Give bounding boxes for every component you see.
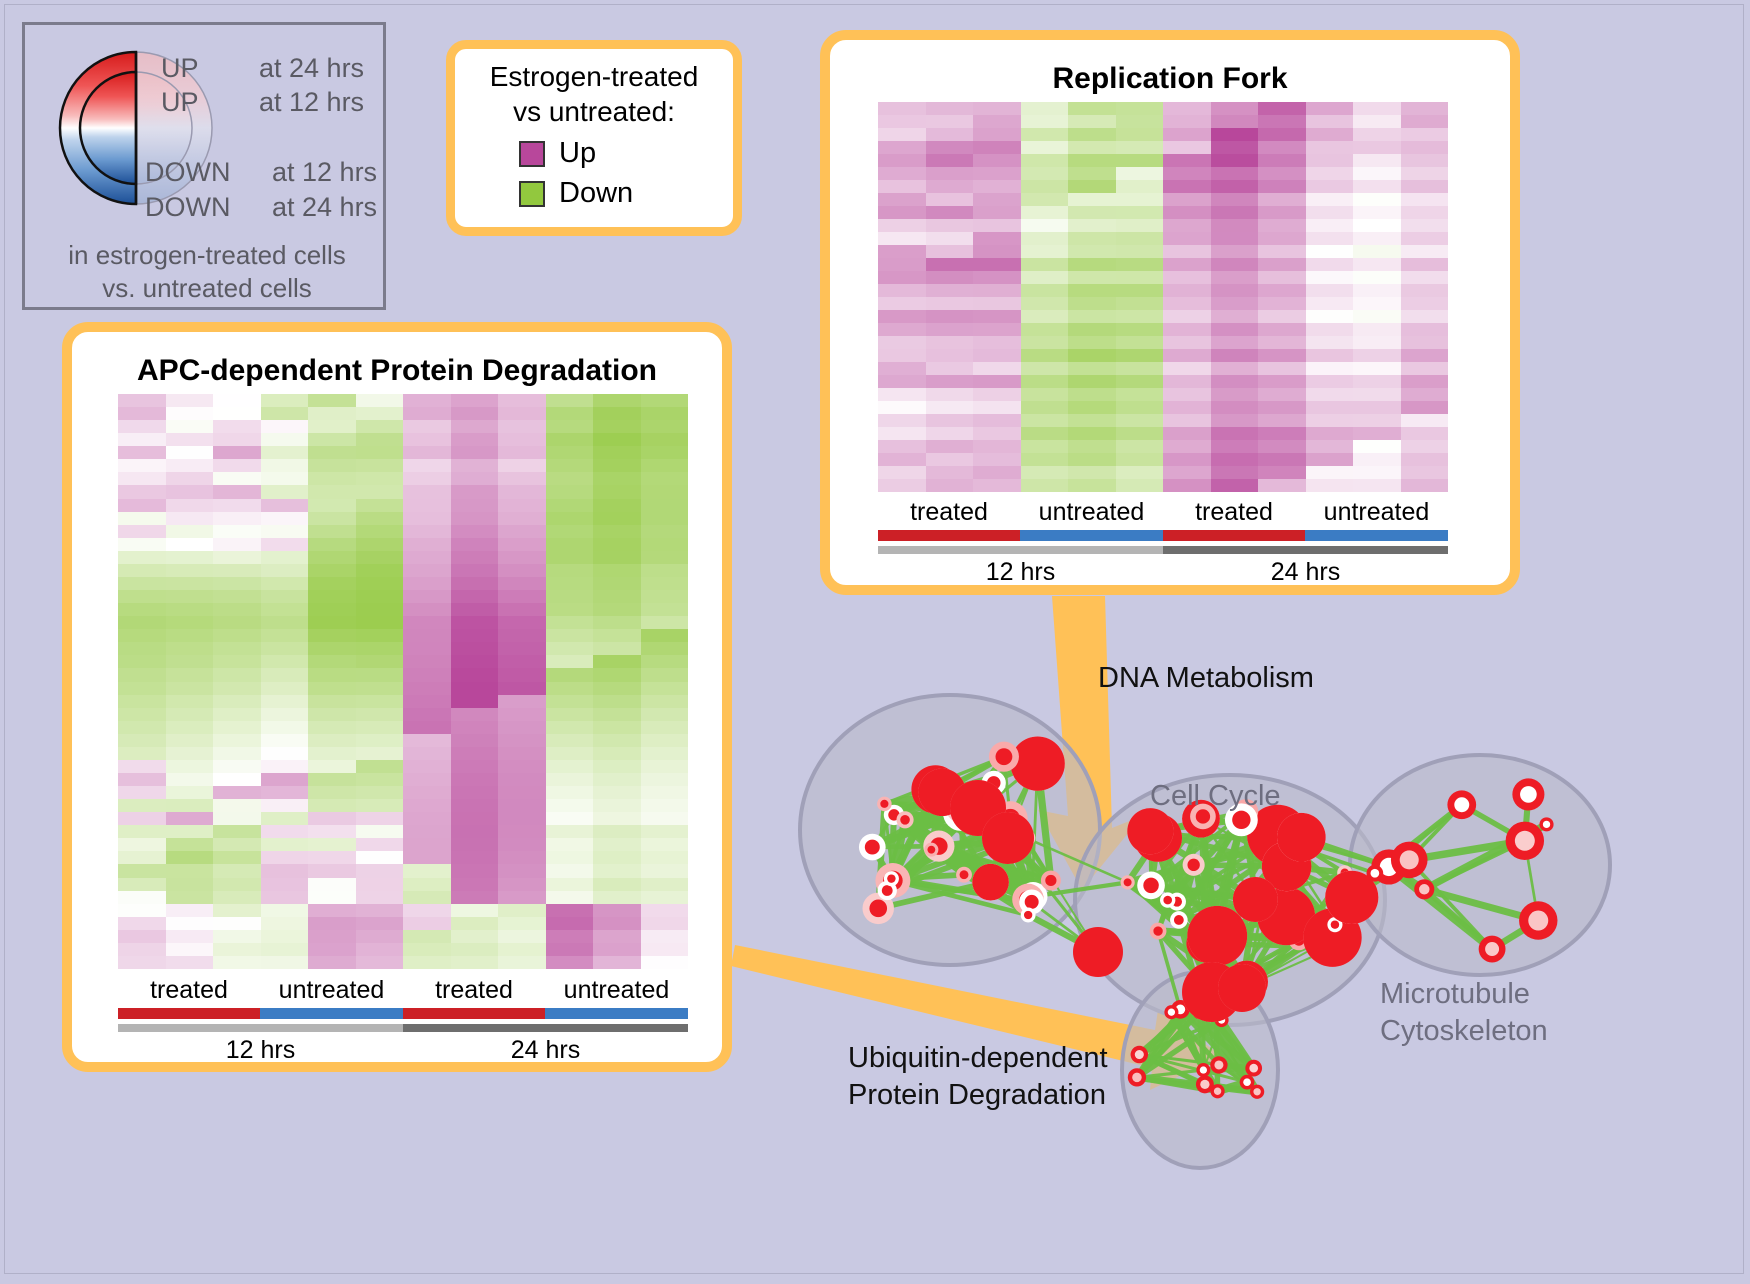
network-node[interactable] (1277, 813, 1326, 862)
network-node[interactable] (900, 815, 910, 825)
network-node-core (1243, 1078, 1251, 1086)
network-node[interactable] (1163, 896, 1172, 905)
sample-bar-apc-treated-24 (403, 1008, 545, 1019)
key-time-3: at 24 hrs (272, 192, 377, 223)
network-node[interactable] (1127, 808, 1173, 854)
key-note-line1: in estrogen-treated cells (25, 239, 389, 272)
panel-title-apc: APC-dependent Protein Degradation (72, 354, 722, 388)
pathway-network-diagram: DNA Metabolism Cell Cycle Microtubule Cy… (780, 600, 1750, 1279)
key-direction-3: DOWN (145, 192, 230, 223)
time-label-rf-12hrs: 12 hrs (878, 558, 1163, 587)
key-time-1: at 12 hrs (259, 87, 364, 118)
network-node[interactable] (1187, 859, 1199, 871)
updown-legend-box: Estrogen-treated vs untreated: Up Down (446, 40, 742, 236)
network-node-core (1371, 869, 1380, 878)
key-direction-2: DOWN (145, 157, 230, 188)
network-node[interactable] (1232, 811, 1250, 829)
network-node-core (1168, 1009, 1175, 1016)
legend-label-down: Down (559, 177, 633, 210)
network-node[interactable] (1143, 878, 1158, 893)
legend-title-line2: vs untreated: (455, 94, 733, 129)
down-color-swatch (519, 181, 545, 207)
sample-bar-rf-untreated-12 (1020, 530, 1163, 541)
network-node-core (1528, 911, 1548, 931)
network-node[interactable] (869, 900, 887, 918)
key-direction-0: UP (161, 53, 199, 84)
cluster-label-cell-cycle: Cell Cycle (1150, 780, 1281, 813)
up-color-swatch (519, 141, 545, 167)
network-node-core (1520, 786, 1537, 803)
network-node[interactable] (982, 812, 1034, 864)
network-node[interactable] (1024, 911, 1032, 919)
network-node-core (1135, 1050, 1144, 1059)
network-node-core (1454, 797, 1469, 812)
sample-bar-rf-treated-24 (1163, 530, 1305, 541)
time-bar-apc-24hrs (403, 1024, 688, 1032)
network-node-core (1515, 831, 1535, 851)
network-node[interactable] (1174, 915, 1184, 925)
colorbar-key-box: UP at 24 hrs UP at 12 hrs DOWN at 12 hrs… (22, 22, 386, 310)
time-label-rf-24hrs: 24 hrs (1163, 558, 1448, 587)
network-node[interactable] (1010, 736, 1064, 790)
sample-bar-rf-treated-12 (878, 530, 1020, 541)
network-node-core (1214, 1060, 1223, 1069)
network-node-core (1214, 1088, 1221, 1095)
sample-label-apc-0: treated (118, 976, 260, 1005)
network-node[interactable] (887, 874, 895, 882)
panel-apc-degradation: APC-dependent Protein Degradation treate… (62, 322, 732, 1072)
legend-title: Estrogen-treated vs untreated: (455, 59, 733, 129)
network-node-core (1485, 942, 1499, 956)
network-node[interactable] (1233, 877, 1278, 922)
network-node[interactable] (1331, 920, 1339, 928)
sample-label-apc-2: treated (403, 976, 545, 1005)
cluster-label-dna-metabolism: DNA Metabolism (1098, 662, 1314, 695)
cluster-label-microtubule-cytoskeleton: Microtubule Cytoskeleton (1380, 976, 1548, 1050)
network-node[interactable] (1153, 926, 1162, 935)
time-label-apc-12hrs: 12 hrs (118, 1036, 403, 1065)
sample-label-rf-0: treated (878, 498, 1020, 527)
network-node[interactable] (1045, 875, 1056, 886)
figure-canvas: UP at 24 hrs UP at 12 hrs DOWN at 12 hrs… (0, 0, 1750, 1279)
network-node-core (1543, 821, 1550, 828)
key-time-0: at 24 hrs (259, 53, 364, 84)
legend-item-up: Up (519, 137, 596, 170)
network-node-core (1400, 850, 1419, 869)
network-node[interactable] (882, 885, 893, 896)
network-node-core (1200, 1066, 1207, 1073)
sample-label-rf-2: treated (1163, 498, 1305, 527)
sample-bar-apc-untreated-24 (545, 1008, 688, 1019)
key-note-line2: vs. untreated cells (25, 272, 389, 305)
sample-bar-apc-untreated-12 (260, 1008, 403, 1019)
heatmap-apc (118, 394, 688, 969)
legend-label-up: Up (559, 137, 596, 170)
network-node[interactable] (1073, 927, 1123, 977)
time-bar-rf-24hrs (1163, 546, 1448, 554)
network-node[interactable] (1124, 878, 1132, 886)
panel-replication-fork: Replication Fork treated untreated treat… (820, 30, 1520, 595)
panel-title-replication-fork: Replication Fork (830, 62, 1510, 96)
key-note: in estrogen-treated cells vs. untreated … (25, 239, 389, 305)
sample-bar-apc-treated-12 (118, 1008, 260, 1019)
key-time-2: at 12 hrs (272, 157, 377, 188)
network-node-core (1132, 1073, 1142, 1083)
network-node-core (1419, 884, 1429, 894)
network-node[interactable] (996, 748, 1013, 765)
network-node[interactable] (972, 864, 1009, 901)
network-node[interactable] (865, 840, 880, 855)
legend-title-line1: Estrogen-treated (455, 59, 733, 94)
sample-label-apc-1: untreated (260, 976, 403, 1005)
network-node[interactable] (1025, 895, 1039, 909)
network-node-core (1249, 1064, 1258, 1073)
sample-label-rf-3: untreated (1305, 498, 1448, 527)
cluster-label-ubiquitin-degradation: Ubiquitin-dependent Protein Degradation (848, 1040, 1108, 1114)
network-node-core (1253, 1088, 1260, 1095)
heatmap-replication-fork (878, 102, 1448, 492)
network-node[interactable] (1218, 964, 1266, 1012)
key-direction-1: UP (161, 87, 199, 118)
network-node[interactable] (960, 870, 969, 879)
network-node[interactable] (1187, 906, 1247, 966)
time-bar-rf-12hrs (878, 546, 1163, 554)
network-node-core (1200, 1080, 1209, 1089)
legend-item-down: Down (519, 177, 633, 210)
sample-bar-rf-untreated-24 (1305, 530, 1448, 541)
sample-label-apc-3: untreated (545, 976, 688, 1005)
network-node[interactable] (927, 846, 935, 854)
time-label-apc-24hrs: 24 hrs (403, 1036, 688, 1065)
sample-label-rf-1: untreated (1020, 498, 1163, 527)
network-node[interactable] (880, 800, 888, 808)
time-bar-apc-12hrs (118, 1024, 403, 1032)
network-graph (780, 600, 1750, 1279)
